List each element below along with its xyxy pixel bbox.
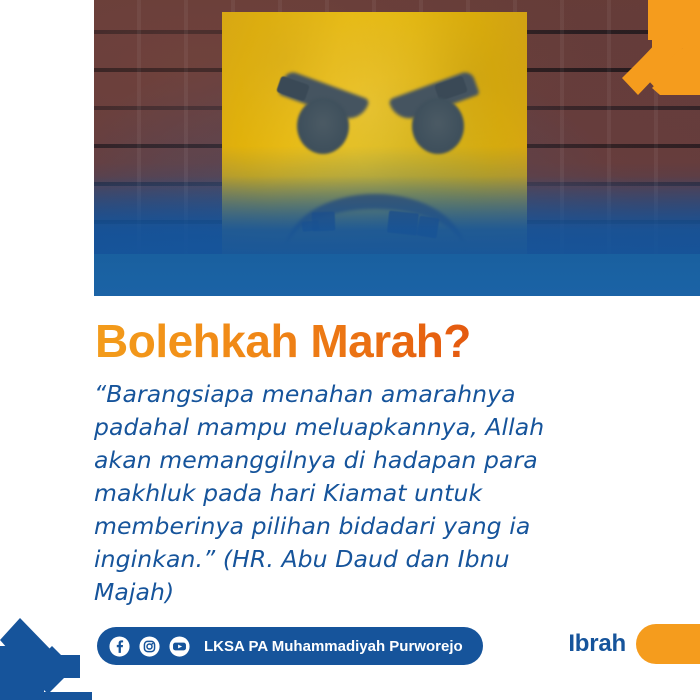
- blue-floor-band: [94, 254, 700, 296]
- page-title: Bolehkah Marah?: [95, 314, 471, 368]
- social-handle-pill[interactable]: LKSA PA Muhammadiyah Purworejo: [97, 627, 483, 665]
- hadith-quote: “Barangsiapa menahan amarahnya padahal m…: [94, 378, 564, 609]
- brand-blob-shape: [636, 624, 700, 664]
- facebook-icon[interactable]: [109, 636, 130, 657]
- youtube-icon[interactable]: [169, 636, 190, 657]
- eye-left: [297, 98, 349, 154]
- brand-name-label: Ibrah: [568, 630, 626, 658]
- social-handle-label: LKSA PA Muhammadiyah Purworejo: [204, 638, 463, 655]
- instagram-icon[interactable]: [139, 636, 160, 657]
- eye-right: [412, 98, 464, 154]
- orange-burst-icon: [600, 0, 700, 95]
- poster-canvas: Bolehkah Marah? “Barangsiapa menahan ama…: [0, 0, 700, 700]
- blue-burst-icon: [0, 608, 95, 700]
- brand-logo: Ibrah: [568, 624, 700, 664]
